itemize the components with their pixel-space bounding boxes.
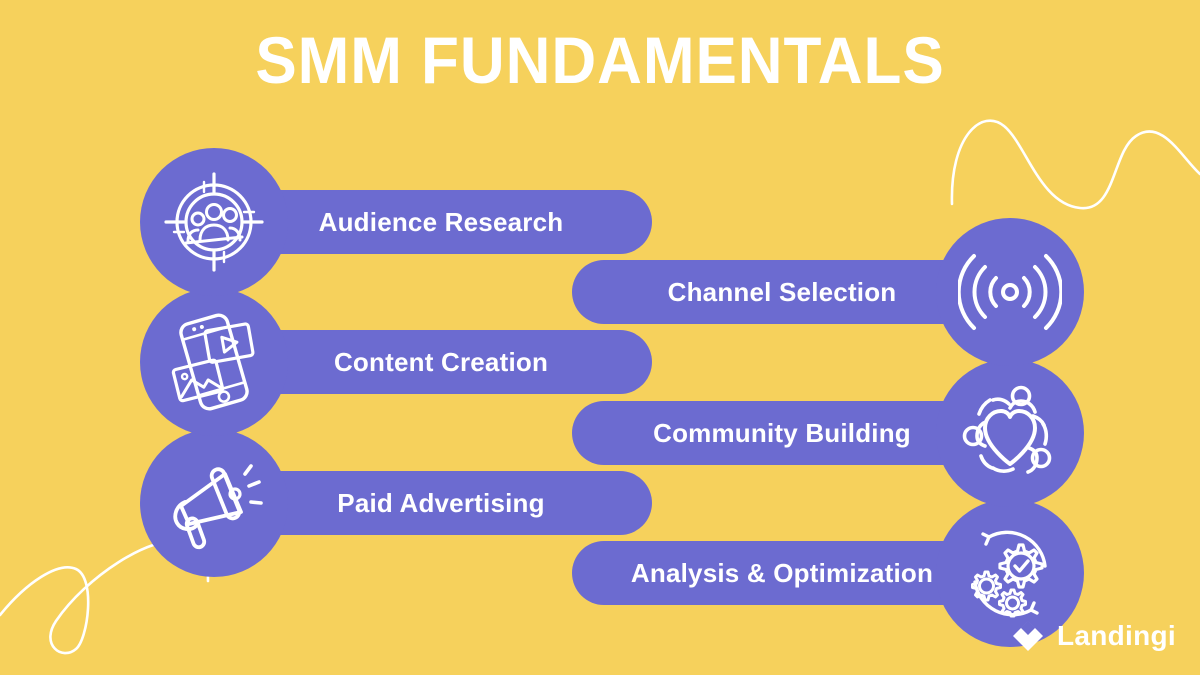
broadcast-signal-icon xyxy=(958,240,1062,344)
megaphone-icon xyxy=(161,450,267,556)
gears-check-icon xyxy=(957,520,1063,626)
heart-people-icon xyxy=(957,380,1063,486)
pill-label: Channel Selection xyxy=(668,277,897,308)
target-audience-icon xyxy=(162,170,266,274)
pill-channel-selection[interactable]: Channel Selection xyxy=(572,260,992,324)
icon-circle-community-building xyxy=(936,359,1084,507)
landingi-diamond-icon xyxy=(1011,619,1045,653)
brand-logo-text: Landingi xyxy=(1057,620,1176,652)
brand-logo[interactable]: Landingi xyxy=(1011,619,1176,653)
icon-circle-paid-advertising xyxy=(140,429,288,577)
pill-content-creation[interactable]: Content Creation xyxy=(230,330,652,394)
pill-label: Analysis & Optimization xyxy=(631,558,933,589)
pill-label: Audience Research xyxy=(319,207,564,238)
pill-label: Content Creation xyxy=(334,347,548,378)
pill-audience-research[interactable]: Audience Research xyxy=(230,190,652,254)
infographic-canvas: SMM FUNDAMENTALS Audience Research xyxy=(0,0,1200,675)
squiggle-top-right-icon xyxy=(930,96,1200,226)
pill-label: Community Building xyxy=(653,418,911,449)
icon-circle-audience-research xyxy=(140,148,288,296)
pill-paid-advertising[interactable]: Paid Advertising xyxy=(230,471,652,535)
page-title: SMM FUNDAMENTALS xyxy=(36,26,1164,95)
icon-circle-channel-selection xyxy=(936,218,1084,366)
pill-community-building[interactable]: Community Building xyxy=(572,401,992,465)
icon-circle-content-creation xyxy=(140,288,288,436)
phone-media-icon xyxy=(160,308,268,416)
pill-analysis-optimization[interactable]: Analysis & Optimization xyxy=(572,541,992,605)
pill-label: Paid Advertising xyxy=(337,488,544,519)
